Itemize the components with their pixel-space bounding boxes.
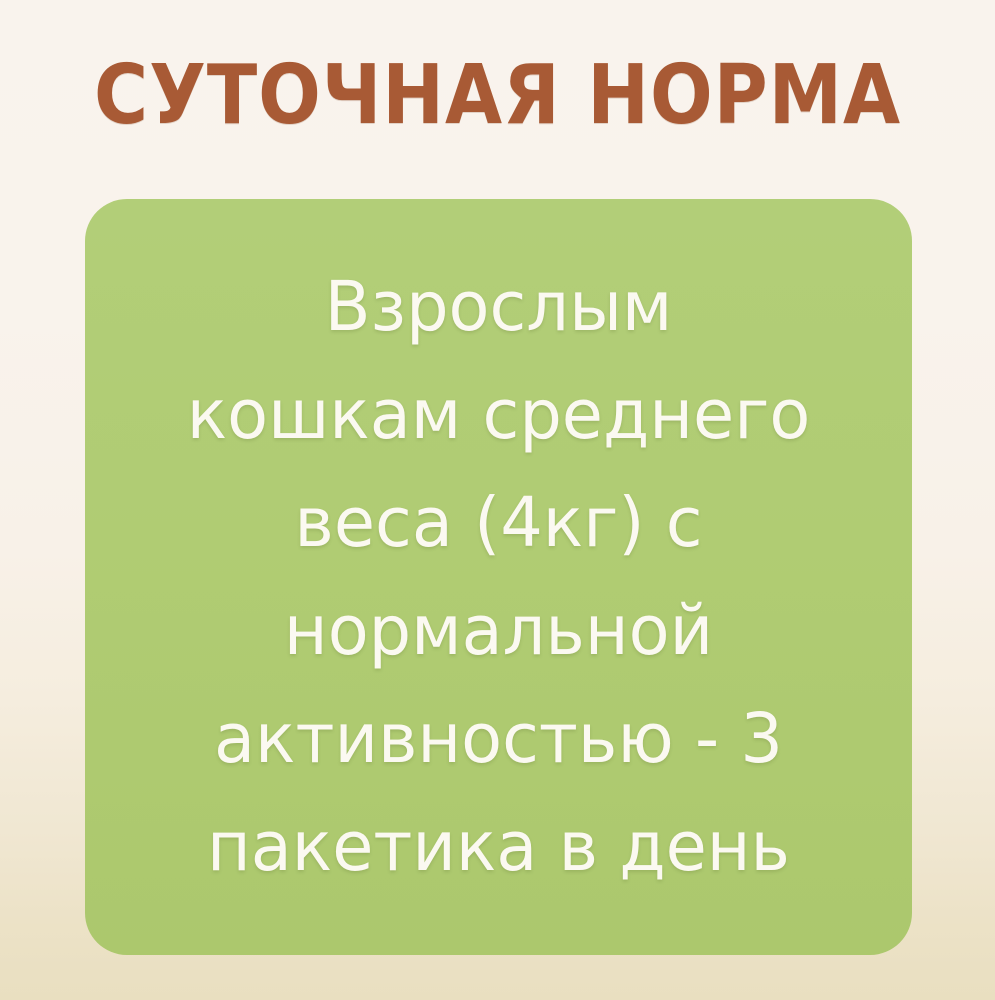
card-text-line-6: пакетика в день <box>107 793 890 901</box>
card-text-line-1: Взрослым <box>107 253 890 361</box>
daily-norm-text-block: Взрослым кошкам среднего веса (4кг) с но… <box>97 253 899 901</box>
page-title: СУТОЧНАЯ НОРМА <box>50 48 946 144</box>
daily-norm-card: Взрослым кошкам среднего веса (4кг) с но… <box>85 199 912 955</box>
poster-canvas: СУТОЧНАЯ НОРМА Взрослым кошкам среднего … <box>0 0 995 1000</box>
card-text-line-3: веса (4кг) с <box>107 469 890 577</box>
card-text-line-4: нормальной <box>107 577 890 685</box>
card-text-line-2: кошкам среднего <box>107 361 890 469</box>
card-text-line-5: активностью - 3 <box>107 685 890 793</box>
